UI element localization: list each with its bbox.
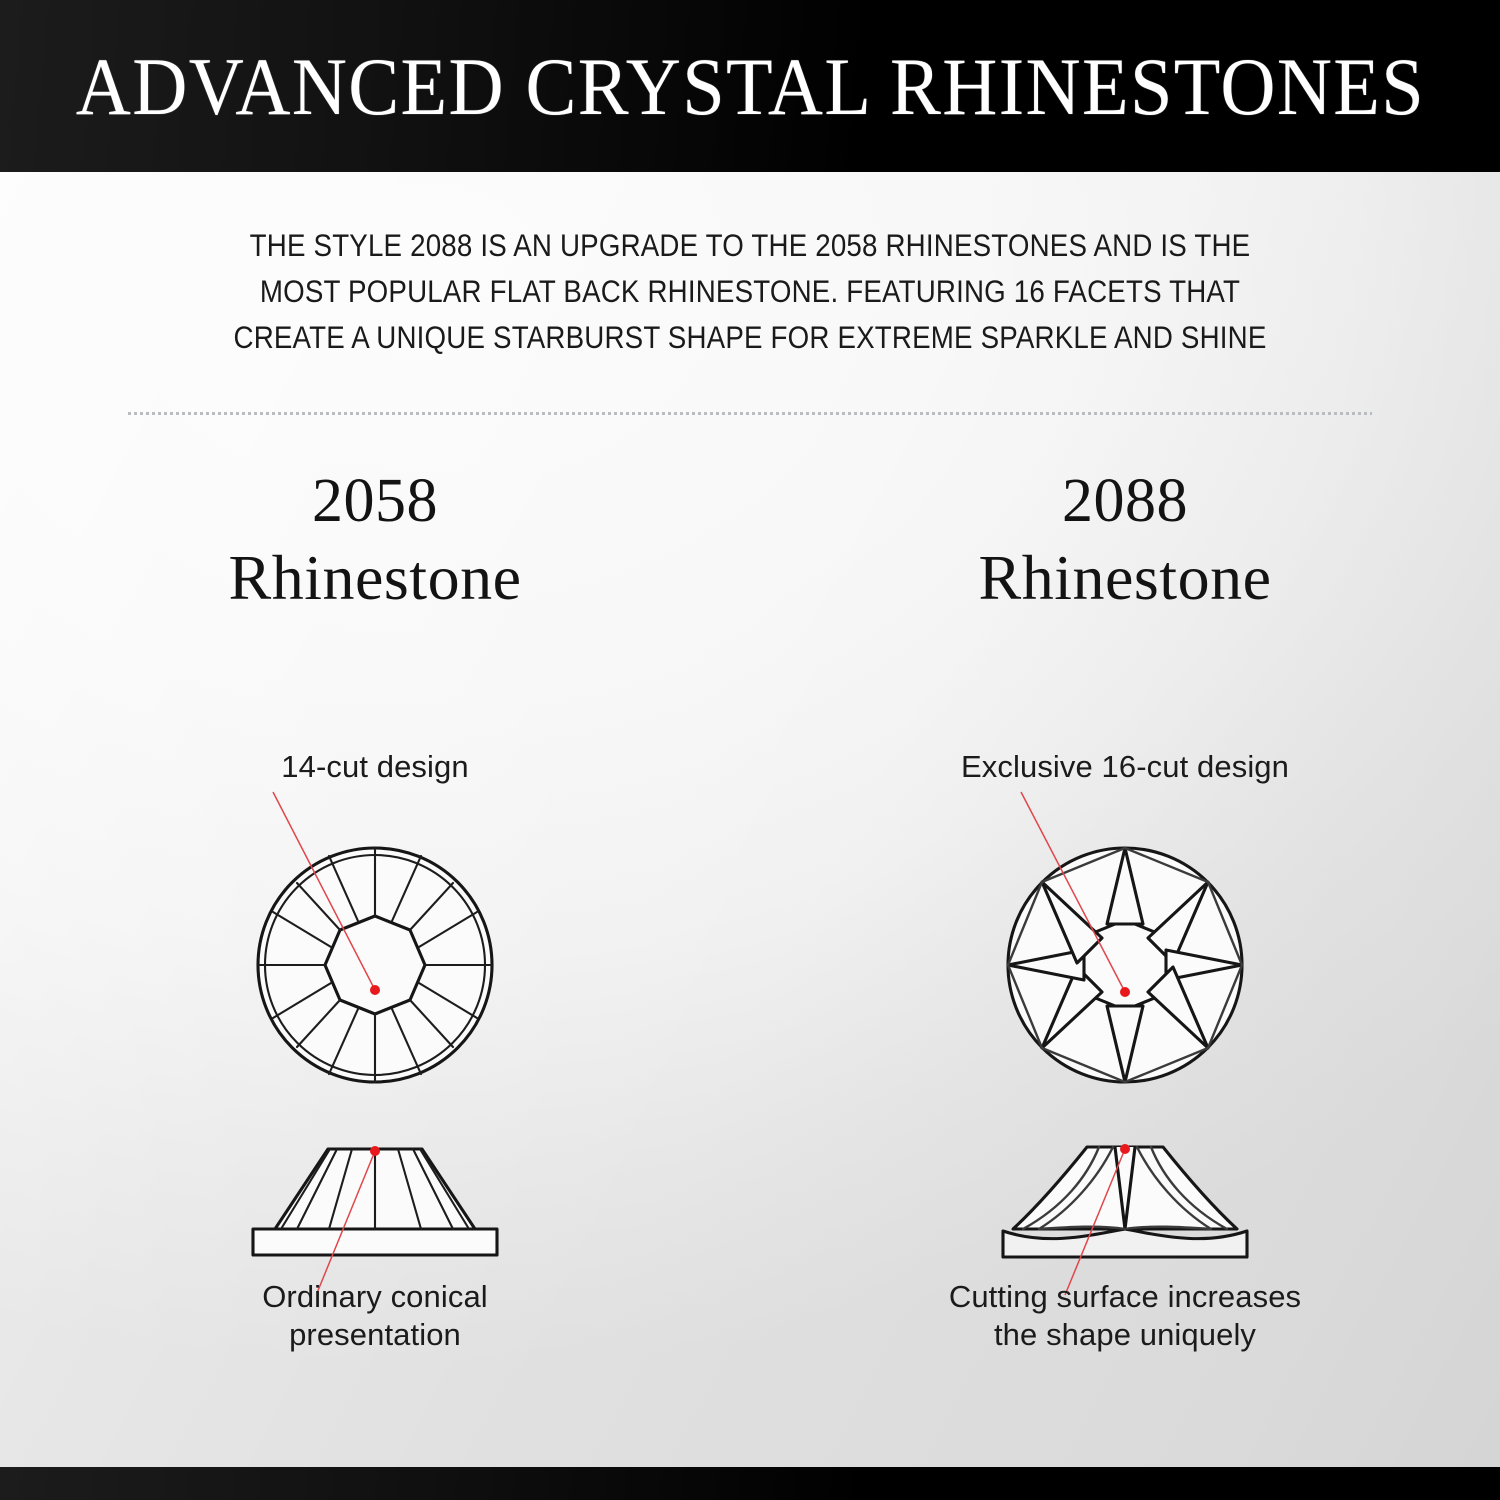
rhinestone-2088-side-view-icon [975, 1125, 1275, 1275]
figure-2088-side [750, 1125, 1500, 1275]
column-word-2058: Rhinestone [0, 545, 750, 610]
intro-line-2: MOST POPULAR FLAT BACK RHINESTONE. FEATU… [194, 268, 1306, 314]
figure-2058-top [0, 800, 750, 1090]
page-title: ADVANCED CRYSTAL RHINESTONES [75, 46, 1424, 128]
figure-2058-side [0, 1125, 750, 1275]
column-number-2088: 2088 [750, 470, 1500, 533]
marker-dot-2088-top [1120, 987, 1130, 997]
figure-2088-top [750, 800, 1500, 1090]
caption-exclusive-16-cut-design: Exclusive 16-cut design [750, 748, 1500, 786]
comparison-columns: 2058 Rhinestone 14-cut design [0, 470, 1500, 1420]
column-heading-2088: 2088 Rhinestone [750, 470, 1500, 611]
marker-dot-2058-side [370, 1146, 380, 1156]
footer-bar [0, 1467, 1500, 1500]
intro-paragraph: THE STYLE 2088 IS AN UPGRADE TO THE 2058… [194, 222, 1306, 360]
header-bar: ADVANCED CRYSTAL RHINESTONES [0, 0, 1500, 172]
dotted-divider [128, 412, 1372, 415]
marker-dot-2088-side [1120, 1144, 1130, 1154]
column-2088: 2088 Rhinestone Exclusive 16-cut design [750, 470, 1500, 1420]
caption-ordinary-line-2: presentation [0, 1316, 750, 1354]
rhinestone-2058-top-view-icon [225, 800, 525, 1090]
caption-cutting-line-1: Cutting surface increases [750, 1278, 1500, 1316]
marker-dot-2058-top [370, 985, 380, 995]
infographic-page: ADVANCED CRYSTAL RHINESTONES THE STYLE 2… [0, 0, 1500, 1500]
rhinestone-2058-side-view-icon [225, 1125, 525, 1275]
column-heading-2058: 2058 Rhinestone [0, 470, 750, 611]
caption-ordinary-line-1: Ordinary conical [0, 1278, 750, 1316]
caption-ordinary-conical-presentation: Ordinary conical presentation [0, 1278, 750, 1354]
caption-14-cut-design: 14-cut design [0, 748, 750, 786]
column-word-2088: Rhinestone [750, 545, 1500, 610]
caption-cutting-surface-increases: Cutting surface increases the shape uniq… [750, 1278, 1500, 1354]
intro-line-1: THE STYLE 2088 IS AN UPGRADE TO THE 2058… [194, 222, 1306, 268]
column-2058: 2058 Rhinestone 14-cut design [0, 470, 750, 1420]
caption-cutting-line-2: the shape uniquely [750, 1316, 1500, 1354]
column-number-2058: 2058 [0, 470, 750, 533]
intro-line-3: CREATE A UNIQUE STARBURST SHAPE FOR EXTR… [194, 314, 1306, 360]
rhinestone-2088-top-view-icon [975, 800, 1275, 1090]
